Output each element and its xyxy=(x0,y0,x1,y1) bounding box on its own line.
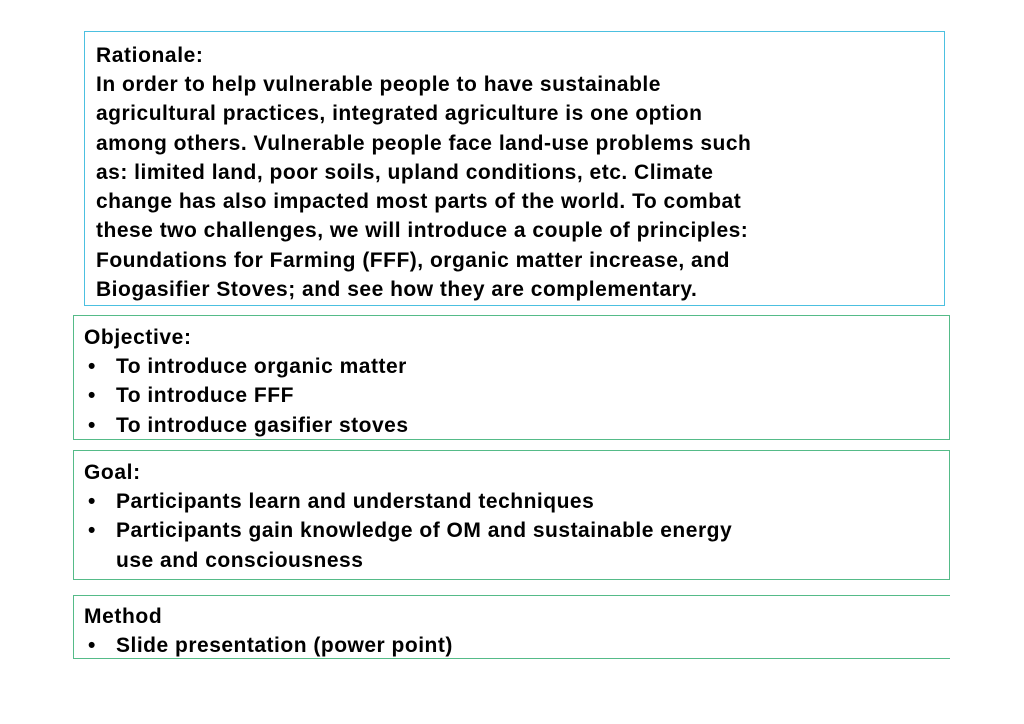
rationale-line-8: Biogasifier Stoves; and see how they are… xyxy=(96,275,934,304)
bullet-icon: • xyxy=(84,487,116,516)
bullet-icon: • xyxy=(84,381,116,410)
list-item: • Participants gain knowledge of OM and … xyxy=(84,516,939,575)
list-item-label: Slide presentation (power point) xyxy=(116,631,940,660)
list-item-line-1: Participants gain knowledge of OM and su… xyxy=(116,519,732,542)
list-item-label: To introduce FFF xyxy=(116,381,939,410)
rationale-line-1: In order to help vulnerable people to ha… xyxy=(96,70,934,99)
rationale-heading: Rationale: xyxy=(96,41,934,70)
list-item: • To introduce FFF xyxy=(84,381,939,410)
rationale-line-4: as: limited land, poor soils, upland con… xyxy=(96,158,934,187)
objective-box: Objective: • To introduce organic matter… xyxy=(73,315,950,440)
list-item: • Participants learn and understand tech… xyxy=(84,487,939,516)
objective-list: • To introduce organic matter • To intro… xyxy=(84,352,939,440)
list-item: • To introduce organic matter xyxy=(84,352,939,381)
list-item-label: To introduce organic matter xyxy=(116,352,939,381)
list-item-line-2: use and consciousness xyxy=(116,546,939,575)
bullet-icon: • xyxy=(84,352,116,381)
rationale-box: Rationale: In order to help vulnerable p… xyxy=(84,31,945,306)
rationale-line-2: agricultural practices, integrated agric… xyxy=(96,99,934,128)
bullet-icon: • xyxy=(84,631,116,660)
list-item: • To introduce gasifier stoves xyxy=(84,411,939,440)
objective-heading: Objective: xyxy=(84,323,939,352)
method-box: Method • Slide presentation (power point… xyxy=(73,595,950,659)
slide-canvas: Rationale: In order to help vulnerable p… xyxy=(0,0,1024,724)
bullet-icon: • xyxy=(84,411,116,440)
goal-heading: Goal: xyxy=(84,458,939,487)
rationale-line-6: these two challenges, we will introduce … xyxy=(96,216,934,245)
list-item-label: To introduce gasifier stoves xyxy=(116,411,939,440)
list-item: • Slide presentation (power point) xyxy=(84,631,940,660)
method-list: • Slide presentation (power point) xyxy=(84,631,940,660)
rationale-line-3: among others. Vulnerable people face lan… xyxy=(96,129,934,158)
method-heading: Method xyxy=(84,602,940,631)
list-item-label: Participants learn and understand techni… xyxy=(116,487,939,516)
rationale-line-7: Foundations for Farming (FFF), organic m… xyxy=(96,246,934,275)
goal-box: Goal: • Participants learn and understan… xyxy=(73,450,950,580)
bullet-icon: • xyxy=(84,516,116,545)
rationale-line-5: change has also impacted most parts of t… xyxy=(96,187,934,216)
list-item-label: Participants gain knowledge of OM and su… xyxy=(116,516,939,575)
goal-list: • Participants learn and understand tech… xyxy=(84,487,939,575)
